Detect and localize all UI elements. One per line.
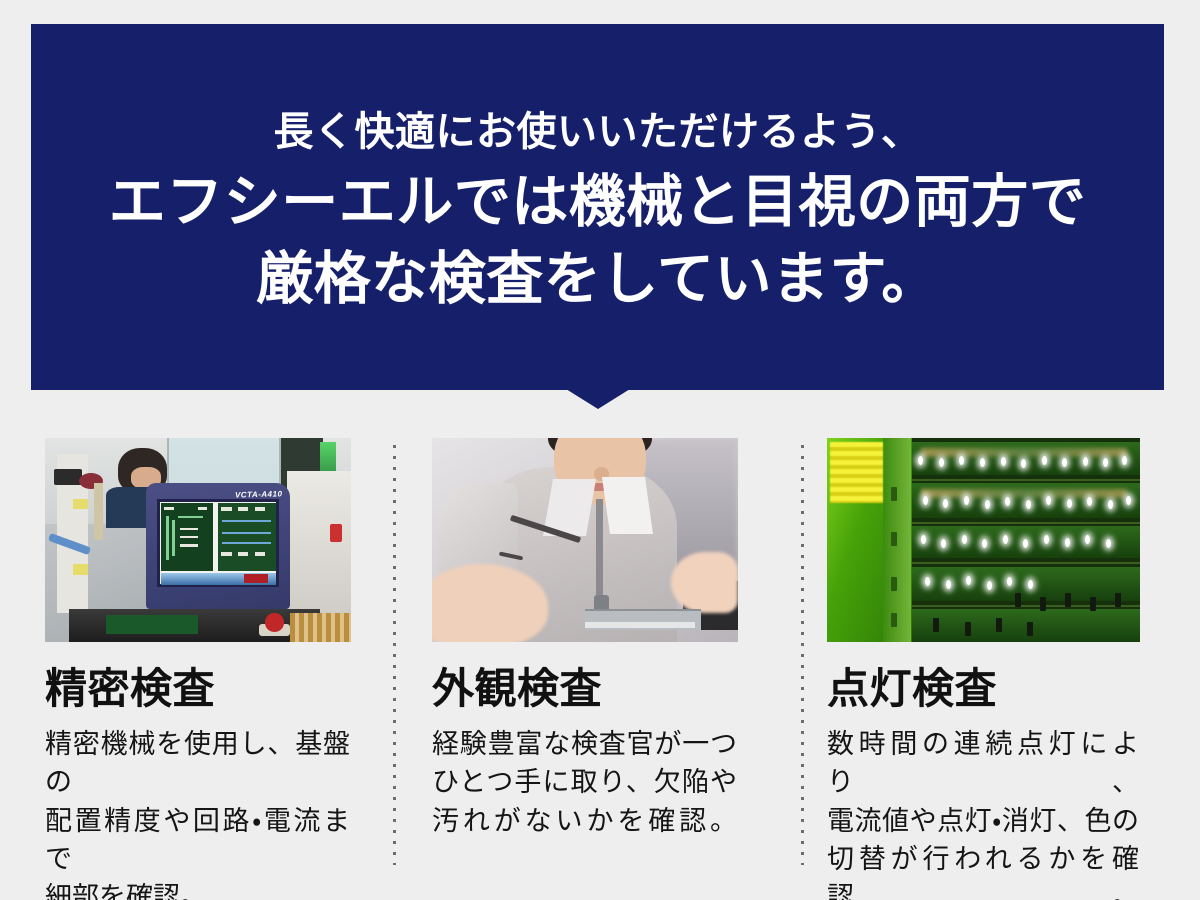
card-body: 数時間の連続点灯により、 電流値や点灯・消灯、色の 切替が行われるかを確認。	[827, 725, 1139, 900]
machine-model-label: VCTA-A410	[235, 489, 283, 499]
card-body: 精密機械を使用し、基盤の 配置精度や回路・電流まで 細部を確認。	[45, 725, 350, 900]
worker-visual-inspection-photo	[432, 438, 738, 642]
headline-banner: 長く快適にお使いいただけるよう、 エフシーエルでは機械と目視の両方で 厳格な検査…	[31, 24, 1164, 390]
card-title: 点灯検査	[827, 667, 1184, 711]
card-body-line: 細部を確認。	[45, 878, 350, 900]
banner-down-arrow-icon	[566, 389, 630, 409]
card-title: 外観検査	[432, 667, 784, 711]
inspection-card-precision: VCTA-A410 精密検査 精密機械を使用し、基盤の 配置精度や回路・電流まで…	[0, 438, 400, 886]
card-divider-2	[801, 445, 804, 865]
card-title: 精密検査	[45, 667, 384, 711]
inspection-card-lighting: 点灯検査 数時間の連続点灯により、 電流値や点灯・消灯、色の 切替が行われるかを…	[800, 438, 1200, 886]
card-body-line: 電流値や点灯・消灯、色の	[827, 802, 1139, 840]
card-body-line: 切替が行われるかを確認。	[827, 840, 1139, 900]
card-body-line: 配置精度や回路・電流まで	[45, 802, 350, 879]
page-root: 長く快適にお使いいただけるよう、 エフシーエルでは機械と目視の両方で 厳格な検査…	[0, 0, 1200, 900]
card-body-line: 汚れがないかを確認。	[432, 802, 737, 840]
aoi-inspection-machine-photo: VCTA-A410	[45, 438, 351, 642]
headline-line-3: 厳格な検査をしています。	[256, 251, 939, 308]
headline-line-2: エフシーエルでは機械と目視の両方で	[109, 174, 1087, 231]
card-body-line: 数時間の連続点灯により、	[827, 725, 1139, 802]
card-body-line: ひとつ手に取り、欠陥や	[432, 763, 737, 801]
card-body-line: 精密機械を使用し、基盤の	[45, 725, 350, 802]
headline-line-1: 長く快適にお使いいただけるよう、	[274, 112, 922, 152]
card-body: 経験豊富な検査官が一つ ひとつ手に取り、欠陥や 汚れがないかを確認。	[432, 725, 737, 840]
inspection-card-grid: VCTA-A410 精密検査 精密機械を使用し、基盤の 配置精度や回路・電流まで…	[0, 438, 1200, 886]
inspection-card-visual: 外観検査 経験豊富な検査官が一つ ひとつ手に取り、欠陥や 汚れがないかを確認。	[400, 438, 800, 886]
card-body-line: 経験豊富な検査官が一つ	[432, 725, 737, 763]
card-divider-1	[393, 445, 396, 865]
burn-in-lighting-rack-photo	[827, 438, 1140, 642]
